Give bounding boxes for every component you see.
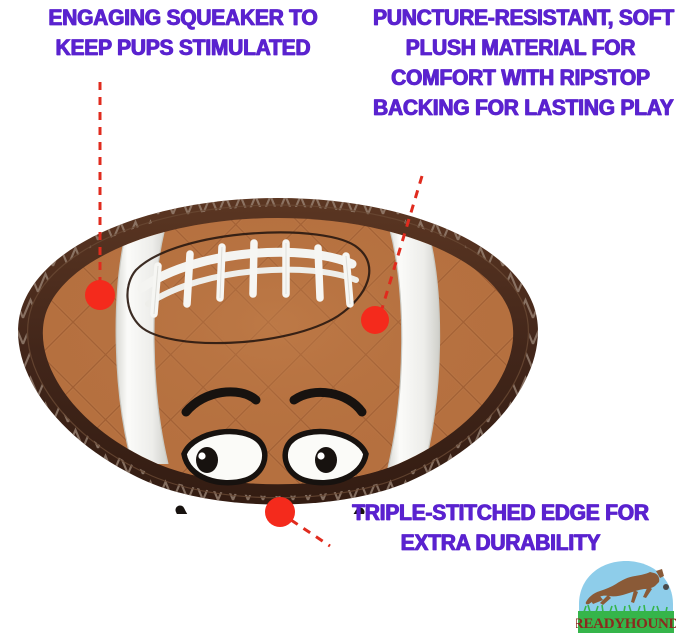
callout-text-edge: TRIPLE-STITCHED EDGE FOR EXTRA DURABILIT… (334, 498, 666, 558)
callout-material-line-3: COMFORT WITH RIPSTOP (373, 63, 668, 93)
callout-squeaker-line-1: ENGAGING SQUEAKER TO (30, 3, 337, 33)
leader-line-material (381, 176, 422, 312)
callout-edge-line-1: TRIPLE-STITCHED EDGE FOR (334, 498, 666, 528)
logo-brand-text: READYHOUND (576, 616, 676, 632)
callout-text-squeaker: ENGAGING SQUEAKER TO KEEP PUPS STIMULATE… (30, 3, 337, 63)
readyhound-logo-svg: READYHOUND (576, 560, 676, 634)
callout-edge-line-2: EXTRA DURABILITY (334, 528, 666, 558)
logo-ball-icon (663, 584, 669, 590)
callout-text-material: PUNCTURE-RESISTANT, SOFT PLUSH MATERIAL … (373, 3, 668, 123)
infographic-canvas: ENGAGING SQUEAKER TO KEEP PUPS STIMULATE… (0, 0, 679, 636)
readyhound-logo[interactable]: READYHOUND (576, 560, 676, 634)
callout-dot-edge[interactable] (265, 497, 295, 527)
callout-dot-squeaker[interactable] (85, 280, 115, 310)
callout-material-line-1: PUNCTURE-RESISTANT, SOFT (373, 3, 668, 33)
callout-dot-material[interactable] (361, 306, 389, 334)
leader-line-edge (291, 520, 330, 546)
callout-material-line-4: BACKING FOR LASTING PLAY (373, 93, 668, 123)
callout-squeaker-line-2: KEEP PUPS STIMULATED (30, 33, 337, 63)
callout-material-line-2: PLUSH MATERIAL FOR (373, 33, 668, 63)
